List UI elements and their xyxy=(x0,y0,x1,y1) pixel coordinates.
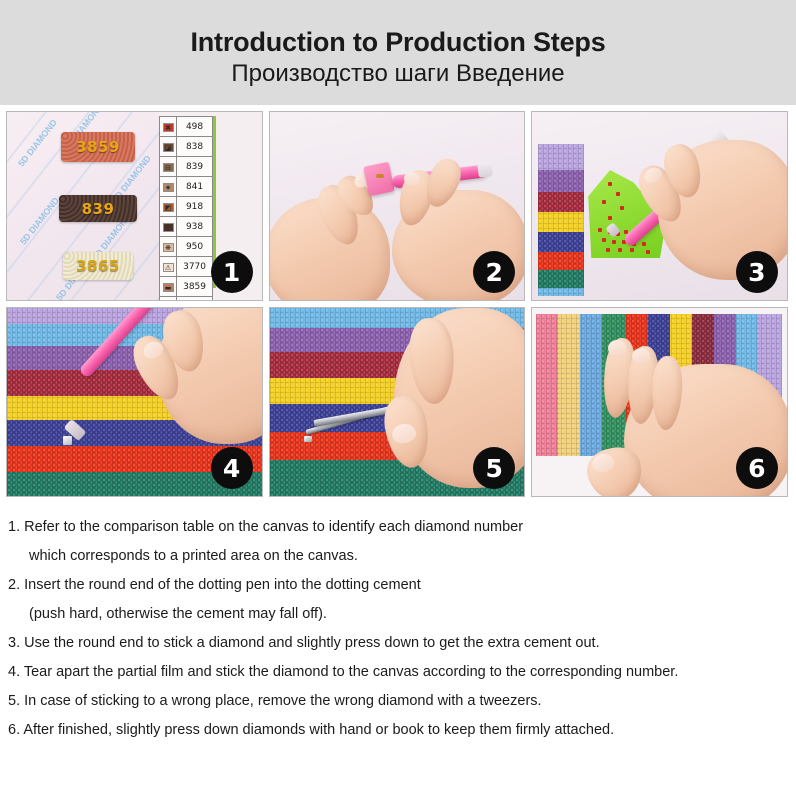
diamond-bag[interactable]: 3865 xyxy=(63,252,133,280)
step-badge-4: 4 xyxy=(211,447,253,489)
diamond-on-pen-tip xyxy=(63,436,72,445)
color-swatch: ✷ xyxy=(163,183,174,192)
diamond-bag-label: 3859 xyxy=(76,138,120,156)
tray-diamond xyxy=(646,250,650,254)
symbol-cell: ✷ xyxy=(160,177,177,197)
canvas-stripe xyxy=(538,232,584,252)
instruction-line: 6. After finished, slightly press down d… xyxy=(8,716,788,745)
diamond-in-tweezers xyxy=(304,436,312,442)
canvas-stripe xyxy=(536,314,558,456)
step-badge-6: 6 xyxy=(736,447,778,489)
panel-remove-wrong-diamond-with-tweezers[interactable]: 5 xyxy=(269,307,526,497)
dotting-cement xyxy=(363,162,395,197)
panel-pick-up-diamond-from-tray[interactable]: 3 xyxy=(531,111,788,301)
panel-place-diamond-on-canvas[interactable]: 4 xyxy=(6,307,263,497)
tray-diamond xyxy=(620,206,624,210)
code-cell: 3770 xyxy=(177,257,213,277)
panel-insert-pen-into-cement[interactable]: 2 xyxy=(269,111,526,301)
steps-grid: 5D DIAMOND 5D DIAMOND 5D DIAMOND 5D DIAM… xyxy=(0,105,796,497)
step-badge-5: 5 xyxy=(473,447,515,489)
code-cell: 839 xyxy=(177,157,213,177)
code-cell: 918 xyxy=(177,197,213,217)
instructions-list: 1. Refer to the comparison table on the … xyxy=(0,503,796,745)
tray-diamond xyxy=(612,240,616,244)
tray-diamond xyxy=(598,228,602,232)
instruction-line: which corresponds to a printed area on t… xyxy=(8,542,788,571)
pen-cap xyxy=(477,161,493,178)
table-row: ◪838 xyxy=(160,137,213,157)
canvas-stripe xyxy=(538,252,584,270)
table-row: ▬3859 xyxy=(160,277,213,297)
page-header: Introduction to Production Steps Произво… xyxy=(0,0,796,105)
code-cell: 838 xyxy=(177,137,213,157)
tray-diamond xyxy=(602,200,606,204)
symbol-cell: ▬ xyxy=(160,277,177,297)
symbol-cell: ◩ xyxy=(160,197,177,217)
panel-color-chart-and-diamond-bags[interactable]: 5D DIAMOND 5D DIAMOND 5D DIAMOND 5D DIAM… xyxy=(6,111,263,301)
tray-diamond xyxy=(608,216,612,220)
color-comparison-table: ✖498 ◪838 ⊟839 ✷841 ◩918 ▽938 ❋950 ⚠3770… xyxy=(159,116,213,301)
diamond-bag[interactable]: 3859 xyxy=(61,132,135,162)
table-row: ✷841 xyxy=(160,177,213,197)
diamond-bag[interactable]: 839 xyxy=(59,195,137,222)
code-cell: 3862 xyxy=(177,297,213,302)
code-cell: 498 xyxy=(177,117,213,137)
table-row: ◩918 xyxy=(160,197,213,217)
symbol-cell: ▽ xyxy=(160,217,177,237)
symbol-cell: ◪ xyxy=(160,137,177,157)
film-watermark: 5D DIAMOND xyxy=(18,195,61,246)
color-swatch: ◪ xyxy=(163,143,174,152)
tray-diamond xyxy=(608,182,612,186)
color-swatch: ✖ xyxy=(163,123,174,132)
step-badge-2: 2 xyxy=(473,251,515,293)
symbol-cell: ◺ xyxy=(160,297,177,302)
tray-diamond xyxy=(606,248,610,252)
panel-press-down-finished-diamonds[interactable]: 6 xyxy=(531,307,788,497)
code-cell: 3859 xyxy=(177,277,213,297)
middle-nail xyxy=(632,348,650,363)
instruction-line: 5. In case of sticking to a wrong place,… xyxy=(8,687,788,716)
step-badge-3: 3 xyxy=(736,251,778,293)
instruction-line: 4. Tear apart the partial film and stick… xyxy=(8,658,788,687)
canvas-stripe xyxy=(538,288,584,296)
symbol-cell: ⊟ xyxy=(160,157,177,177)
instruction-line: 2. Insert the round end of the dotting p… xyxy=(8,571,788,600)
table-row: ✖498 xyxy=(160,117,213,137)
tray-diamond xyxy=(642,242,646,246)
symbol-cell: ⚠ xyxy=(160,257,177,277)
instruction-line: (push hard, otherwise the cement may fal… xyxy=(8,600,788,629)
color-swatch: ▽ xyxy=(163,223,174,232)
step-badge-1: 1 xyxy=(211,251,253,293)
canvas-stripe xyxy=(538,192,584,212)
symbol-cell: ✖ xyxy=(160,117,177,137)
tray-diamond xyxy=(602,238,606,242)
table-row: ⊟839 xyxy=(160,157,213,177)
steps-row-top: 5D DIAMOND 5D DIAMOND 5D DIAMOND 5D DIAM… xyxy=(6,111,790,301)
code-cell: 938 xyxy=(177,217,213,237)
canvas-stripe xyxy=(538,170,584,192)
page-title-en: Introduction to Production Steps xyxy=(0,26,796,58)
striped-canvas xyxy=(538,144,584,296)
page-title-ru: Производство шаги Введение xyxy=(0,59,796,89)
table-row: ⚠3770 xyxy=(160,257,213,277)
cement-hole xyxy=(376,174,384,178)
symbol-cell: ❋ xyxy=(160,237,177,257)
tray-diamond xyxy=(618,248,622,252)
color-swatch: ▬ xyxy=(163,283,174,292)
color-swatch: ❋ xyxy=(163,243,174,252)
steps-row-bottom: 4 xyxy=(6,307,790,497)
instruction-line: 3. Use the round end to stick a diamond … xyxy=(8,629,788,658)
tray-diamond xyxy=(616,192,620,196)
index-nail xyxy=(608,340,626,355)
tray-diamond xyxy=(630,248,634,252)
film-watermark: 5D DIAMOND xyxy=(16,117,59,168)
canvas-stripe xyxy=(538,144,584,170)
code-cell: 950 xyxy=(177,237,213,257)
color-comparison-table-body: ✖498 ◪838 ⊟839 ✷841 ◩918 ▽938 ❋950 ⚠3770… xyxy=(160,117,213,302)
table-row: ❋950 xyxy=(160,237,213,257)
instruction-line: 1. Refer to the comparison table on the … xyxy=(8,513,788,542)
color-swatch: ⚠ xyxy=(163,263,174,272)
color-swatch: ⊟ xyxy=(163,163,174,172)
table-row: ◺3862 xyxy=(160,297,213,302)
diamond-bag-label: 839 xyxy=(82,200,115,218)
canvas-stripe xyxy=(580,314,602,456)
canvas-stripe xyxy=(538,270,584,288)
code-cell: 841 xyxy=(177,177,213,197)
canvas-stripe xyxy=(558,314,580,456)
canvas-stripe xyxy=(538,212,584,232)
diamond-bag-label: 3865 xyxy=(76,257,120,275)
color-swatch: ◩ xyxy=(163,203,174,212)
table-row: ▽938 xyxy=(160,217,213,237)
